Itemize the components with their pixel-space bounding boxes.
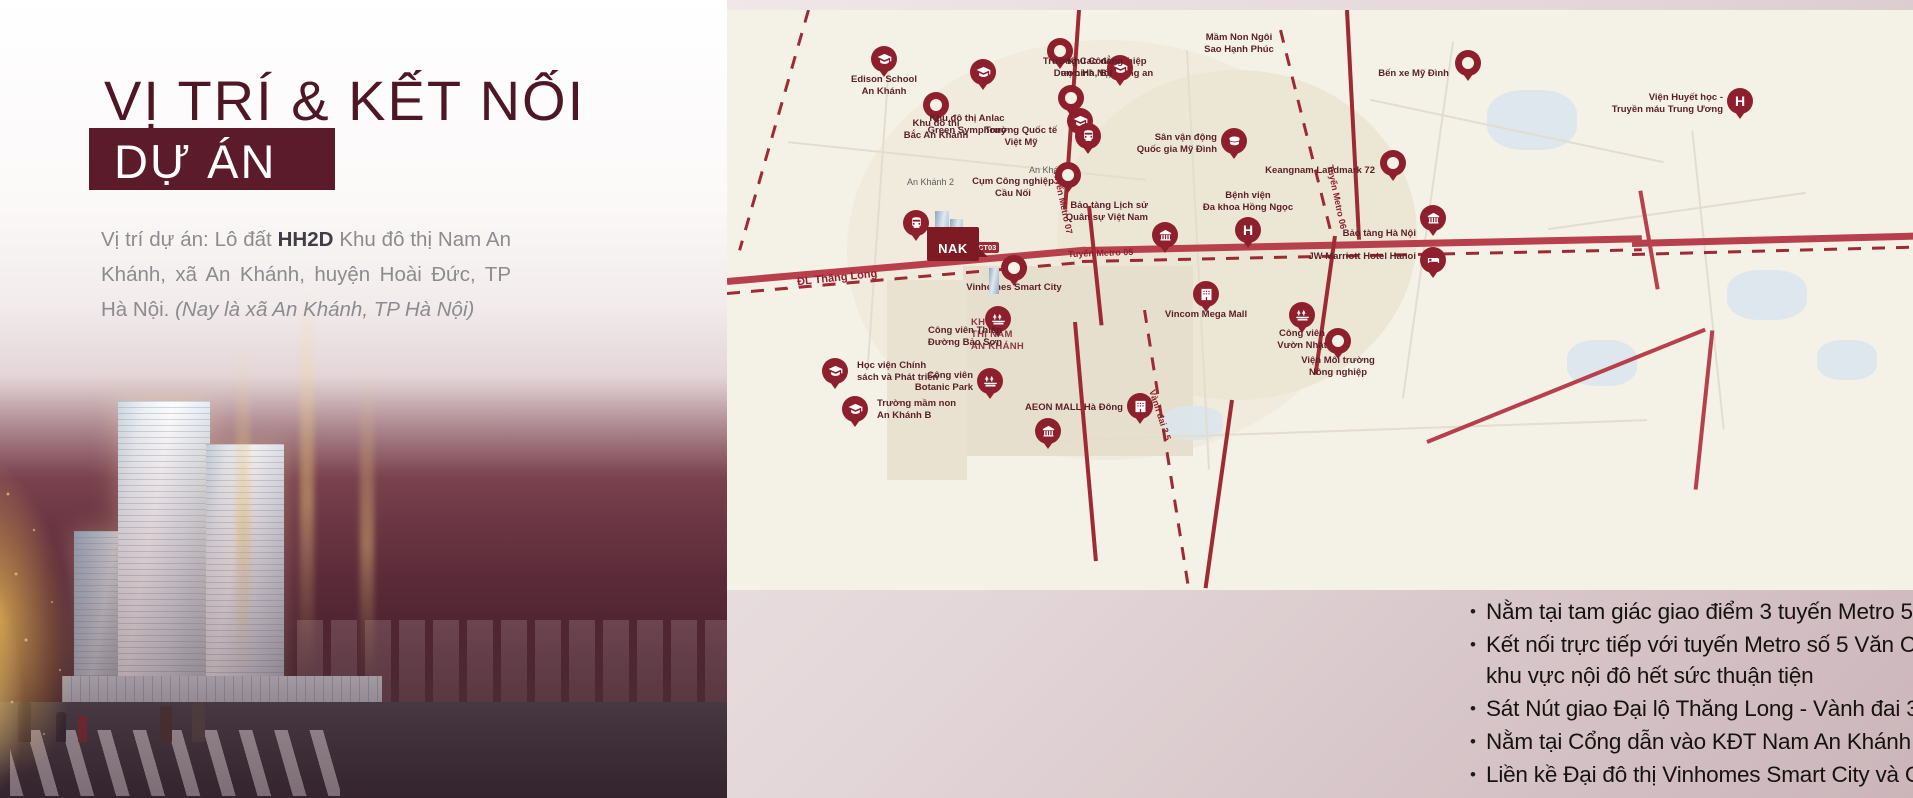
ring-icon xyxy=(1332,335,1344,347)
ring-icon xyxy=(930,99,942,111)
ring-icon xyxy=(1008,262,1020,274)
museum-icon xyxy=(1426,211,1441,226)
feature-bullet-list: • Nằm tại tam giác giao điểm 3 tuyến Met… xyxy=(1460,596,1913,792)
bullet-text: Sát Nút giao Đại lộ Thăng Long - Vành đa… xyxy=(1486,693,1913,724)
poi-label-vien-huyet-hoc: Viện Huyết học -Truyền máu Trung Ương xyxy=(1612,92,1723,115)
gold-sparkle-decoration xyxy=(0,470,110,770)
poi-label-cao-dang-duoc: Trường Cao đẳngDược Hà Nội xyxy=(1043,56,1123,79)
poi-label-truong-mam-non-an-khanh-b: Trường mầm nonAn Khánh B xyxy=(877,398,956,421)
metro-train-icon xyxy=(909,216,924,231)
bullet-item: • Nằm tại tam giác giao điểm 3 tuyến Met… xyxy=(1460,596,1913,627)
poi-aeon-mall-ha-dong[interactable] xyxy=(1127,393,1153,419)
poi-label-edison-school: Edison SchoolAn Khánh xyxy=(851,74,917,97)
poi-cum-cong-nghiep-cau-noi[interactable] xyxy=(1055,162,1081,188)
poi-label-cong-vien-vuon-nhat: Công viênVườn Nhật xyxy=(1277,328,1327,351)
hospital-h-icon: H xyxy=(1243,223,1253,237)
bullet-item: • Liền kề Đại đô thị Vinhomes Smart City… xyxy=(1460,759,1913,790)
page-subtitle: DỰ ÁN xyxy=(114,134,276,189)
graduation-cap-icon xyxy=(828,364,843,379)
poi-vinhomes-smart-city[interactable] xyxy=(1001,255,1027,281)
poi-vien-moi-truong-nong-nghiep[interactable] xyxy=(1325,328,1351,354)
poi-museum-marker[interactable] xyxy=(1035,418,1061,444)
poi-label-jw-marriott: JW Marriott Hotel Hanoi xyxy=(1308,251,1416,263)
mall-icon xyxy=(1133,399,1148,414)
poi-vien-huyet-hoc[interactable]: H xyxy=(1727,88,1753,114)
poi-vincom-mega-mall[interactable] xyxy=(1193,281,1219,307)
hospital-h-icon: H xyxy=(1735,94,1745,108)
park-trees-icon xyxy=(1295,308,1310,323)
lot-code: HH2D xyxy=(278,228,334,251)
poi-bao-tang-ha-noi[interactable] xyxy=(1420,205,1446,231)
bullet-item: • Sát Nút giao Đại lộ Thăng Long - Vành … xyxy=(1460,693,1913,724)
bullet-text: Liền kề Đại đô thị Vinhomes Smart City v… xyxy=(1486,759,1913,790)
bullet-marker: • xyxy=(1460,726,1486,757)
bullet-marker: • xyxy=(1460,596,1486,627)
right-map-panel: ĐL Thăng Long Tuyến Metro 07 Tuyến Metro… xyxy=(727,0,1913,798)
location-prefix: Vị trí dự án: Lô đất xyxy=(101,228,278,251)
map-water xyxy=(1727,270,1807,320)
poi-label-vien-moi-truong-nong-nghiep: Viện Môi trườngNông nghiệp xyxy=(1301,355,1375,378)
ring-icon xyxy=(1462,57,1474,69)
poi-metro-station-an-khanh[interactable] xyxy=(903,210,929,236)
bullet-text: Nằm tại tam giác giao điểm 3 tuyến Metro… xyxy=(1486,596,1913,627)
poi-label-benh-vien-hong-ngoc: Bệnh việnĐa khoa Hồng Ngọc xyxy=(1203,190,1293,213)
poi-label-aeon-mall-ha-dong: AEON MALL Hà Đông xyxy=(1025,402,1123,414)
poi-mam-non-ngoi-sao[interactable] xyxy=(970,59,996,85)
poi-benh-vien-hong-ngoc[interactable]: H xyxy=(1235,217,1261,243)
poi-label-san-van-dong-my-dinh: Sân vận độngQuốc gia Mỹ Đình xyxy=(1137,132,1217,155)
poi-bao-tang-lich-su-quan-su[interactable] xyxy=(1152,222,1178,248)
mall-icon xyxy=(1199,287,1214,302)
bullet-text: Nằm tại Cổng dẫn vào KĐT Nam An Khánh xyxy=(1486,726,1913,757)
poi-edison-school[interactable] xyxy=(871,46,897,72)
poi-label-bao-tang-ha-noi: Bảo tàng Hà Nội xyxy=(1343,228,1416,240)
bullet-item: • Nằm tại Cổng dẫn vào KĐT Nam An Khánh xyxy=(1460,726,1913,757)
poi-label-vinhomes-smart-city: Vinhomes Smart City xyxy=(966,282,1061,294)
location-note: (Nay là xã An Khánh, TP Hà Nội) xyxy=(175,298,474,321)
poi-label-vincom-mega-mall: Vincom Mega Mall xyxy=(1165,309,1247,321)
metro-train-icon xyxy=(1081,129,1096,144)
bullet-marker: • xyxy=(1460,759,1486,790)
bullet-item: • Kết nối trực tiếp với tuyến Metro số 5… xyxy=(1460,629,1913,691)
bullet-text: Kết nối trực tiếp với tuyến Metro số 5 V… xyxy=(1486,629,1913,691)
bullet-marker: • xyxy=(1460,693,1486,724)
project-location-paragraph: Vị trí dự án: Lô đất HH2D Khu đô thị Nam… xyxy=(101,222,511,327)
poi-jw-marriott[interactable] xyxy=(1420,247,1446,273)
museum-icon xyxy=(1041,424,1056,439)
poi-ben-xe-my-dinh[interactable] xyxy=(1455,50,1481,76)
poi-cong-vien-vuon-nhat[interactable] xyxy=(1289,302,1315,328)
poi-hoc-vien-chinh-sach[interactable] xyxy=(822,358,848,384)
ring-icon xyxy=(1062,169,1074,181)
poi-label-ben-xe-my-dinh: Bến xe Mỹ Đình xyxy=(1378,68,1449,80)
project-marker-label: NAK xyxy=(927,241,979,256)
hotel-bed-icon xyxy=(1426,253,1441,268)
graduation-cap-icon xyxy=(877,52,892,67)
map-label-an-khanh-2: An Khánh 2 xyxy=(907,177,954,187)
poi-label-bao-tang-lich-su-quan-su: Bảo tàng Lịch sửQuân sự Việt Nam xyxy=(1066,200,1148,223)
poi-botanic-park[interactable] xyxy=(977,368,1003,394)
poi-label-cum-cong-nghiep-cau-noi: Cụm Công nghiệpCầu Nối xyxy=(972,176,1054,199)
page-title: VỊ TRÍ & KẾT NỐI xyxy=(104,68,585,133)
park-trees-icon xyxy=(983,374,998,389)
stadium-icon xyxy=(1227,134,1242,149)
poi-label-mam-non-ngoi-sao: Mầm Non NgôiSao Hạnh Phúc xyxy=(1204,32,1274,55)
poi-label-thien-duong-bao-son: Công viên ThiênĐường Bảo Sơn xyxy=(928,325,1002,348)
ring-icon xyxy=(1065,92,1077,104)
poi-label-hoc-vien-chinh-sach: Học viện Chínhsách và Phát triển xyxy=(857,360,938,383)
ring-icon xyxy=(1387,157,1399,169)
graduation-cap-icon xyxy=(848,402,863,417)
left-intro-panel: VỊ TRÍ & KẾT NỐI DỰ ÁN Vị trí dự án: Lô … xyxy=(0,0,727,798)
poi-truong-mam-non-an-khanh-b[interactable] xyxy=(842,396,868,422)
project-marker-nak[interactable]: NAK xyxy=(927,215,985,261)
poi-label-truong-quoc-te-viet-my: Trường Quốc tếViệt Mỹ xyxy=(985,125,1057,148)
poi-keangnam-landmark-72[interactable] xyxy=(1380,150,1406,176)
museum-icon xyxy=(1158,228,1173,243)
poi-label-keangnam-landmark-72: Keangnam Landmark 72 xyxy=(1265,165,1375,177)
graduation-cap-icon xyxy=(976,65,991,80)
bullet-marker: • xyxy=(1460,629,1486,660)
poi-san-van-dong-my-dinh[interactable] xyxy=(1221,128,1247,154)
small-building-icon xyxy=(989,268,999,294)
poi-metro-station-06[interactable] xyxy=(1075,123,1101,149)
map-water xyxy=(1817,340,1877,380)
location-map[interactable]: ĐL Thăng Long Tuyến Metro 07 Tuyến Metro… xyxy=(727,10,1913,590)
